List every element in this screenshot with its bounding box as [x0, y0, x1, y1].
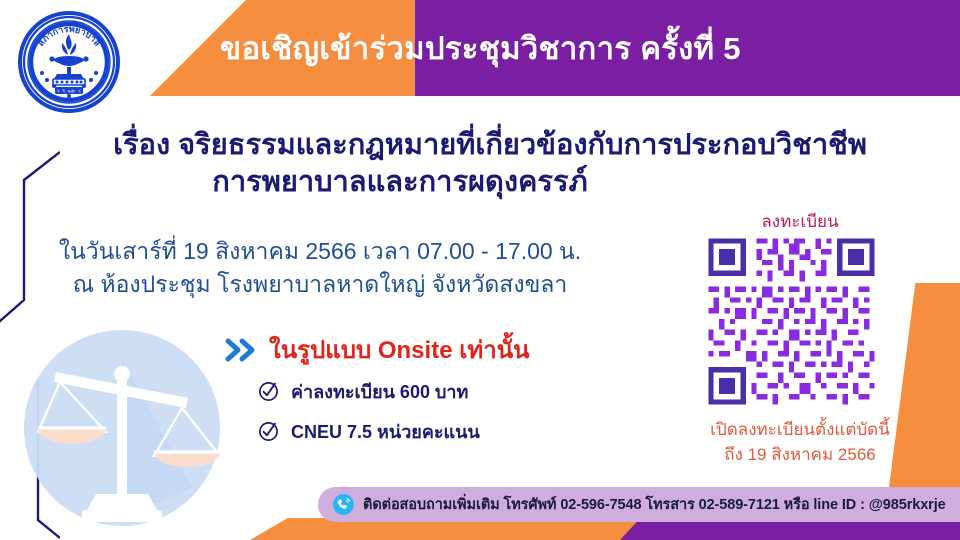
phone-ring-icon	[332, 493, 355, 516]
banner-heading: ขอเชิญเข้าร่วมประชุมวิชาการ ครั้งที่ 5	[220, 0, 765, 96]
check-circle-icon	[258, 421, 279, 442]
header-banner: ขอเชิญเข้าร่วมประชุมวิชาการ ครั้งที่ 5	[0, 0, 960, 96]
qr-register-label: ลงทะเบียน	[690, 208, 910, 235]
event-details: ในวันเสาร์ที่ 19 สิงหาคม 2566 เวลา 07.00…	[20, 235, 620, 300]
contact-info-text: ติดต่อสอบถามเพิ่มเติม โทรศัพท์ 02-596-75…	[363, 493, 946, 516]
qr-code-icon[interactable]	[703, 233, 880, 410]
list-item: CNEU 7.5 หน่วยคะแนน	[258, 415, 480, 447]
event-venue: ณ ห้องประชุม โรงพยาบาลหาดใหญ่ จังหวัดสงข…	[20, 268, 620, 301]
double-chevron-right-icon	[225, 338, 259, 362]
onsite-format-label: ในรูปแบบ Onsite เท่านั้น	[269, 330, 530, 369]
qr-note-line-2: ถึง 19 สิงหาคม 2566	[655, 443, 945, 468]
bullet-label-cneu: CNEU 7.5 หน่วยคะแนน	[291, 417, 480, 446]
contact-bar: ติดต่อสอบถามเพิ่มเติม โทรศัพท์ 02-596-75…	[318, 487, 960, 522]
poster-canvas: ขอเชิญเข้าร่วมประชุมวิชาการ ครั้งที่ 5	[0, 0, 960, 540]
event-title-line-2: การพยาบาลและการผดุงครรภ์	[30, 165, 950, 200]
nursing-council-logo-icon: พ.ศ. ๒๕๒๘ สภาการพยาบาล	[17, 10, 121, 114]
qr-registration-period: เปิดลงทะเบียนตั้งแต่บัดนี้ ถึง 19 สิงหาค…	[655, 418, 945, 467]
check-circle-icon	[258, 381, 279, 402]
onsite-format-row: ในรูปแบบ Onsite เท่านั้น	[225, 330, 530, 369]
event-title: เรื่อง จริยธรรมและกฎหมายที่เกี่ยวข้องกับ…	[30, 128, 950, 201]
bullet-list: ค่าลงทะเบียน 600 บาท CNEU 7.5 หน่วยคะแนน	[258, 375, 480, 455]
event-title-line-1: เรื่อง จริยธรรมและกฎหมายที่เกี่ยวข้องกับ…	[30, 128, 950, 163]
event-date-time: ในวันเสาร์ที่ 19 สิงหาคม 2566 เวลา 07.00…	[20, 235, 620, 268]
qr-note-line-1: เปิดลงทะเบียนตั้งแต่บัดนี้	[655, 418, 945, 443]
bullet-label-fee: ค่าลงทะเบียน 600 บาท	[291, 377, 468, 406]
scales-of-justice-icon	[22, 328, 222, 528]
list-item: ค่าลงทะเบียน 600 บาท	[258, 375, 480, 407]
